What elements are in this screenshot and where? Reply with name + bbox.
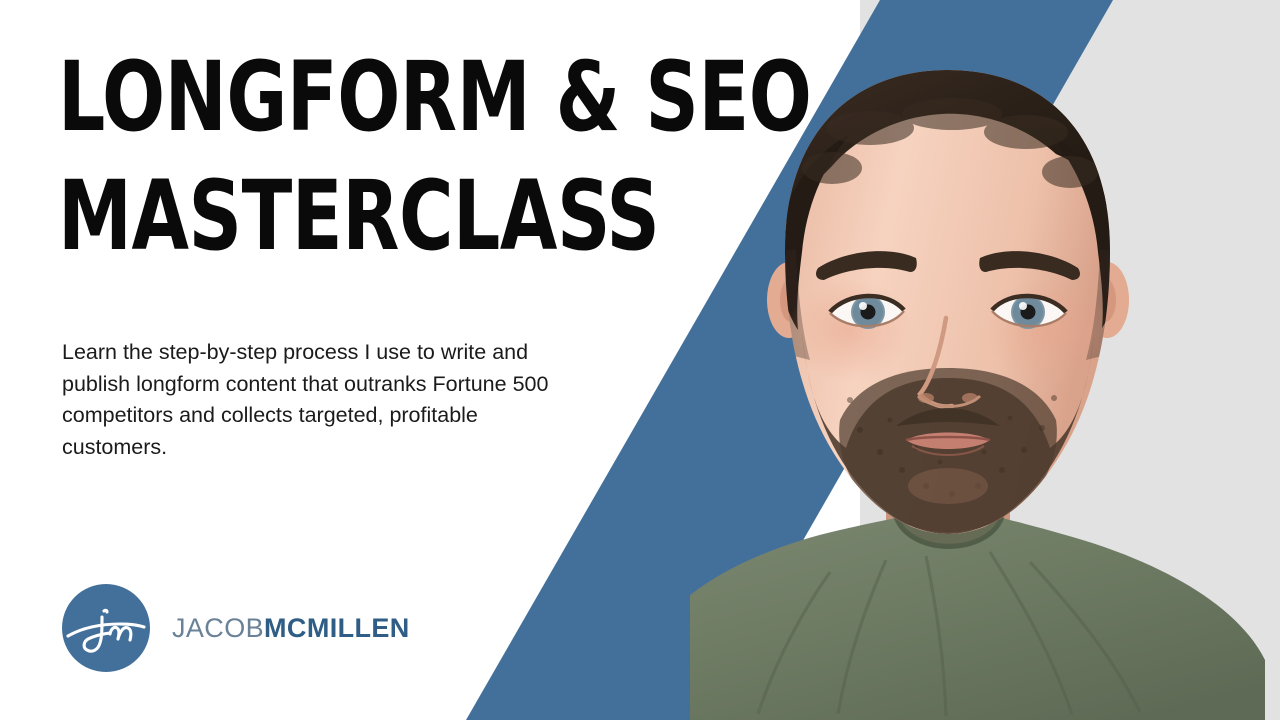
brand-first-name: JACOB [172,613,264,644]
brand-last-name: MCMILLEN [264,613,410,644]
brand-logo-lockup: JACOB MCMILLEN [62,584,410,672]
subcopy-paragraph: Learn the step-by-step process I use to … [62,337,562,463]
subheading-text: Learn the step-by-step process I use to … [62,337,562,463]
headline-line-2: MASTERCLASS [58,157,660,276]
jm-monogram-icon [62,584,150,672]
page-title: LONGFORM & SEO MASTERCLASS [58,38,660,276]
headline-line-1: LONGFORM & SEO [58,38,660,157]
brand-wordmark: JACOB MCMILLEN [172,613,410,644]
slide-canvas: LONGFORM & SEO MASTERCLASS Learn the ste… [0,0,1280,720]
